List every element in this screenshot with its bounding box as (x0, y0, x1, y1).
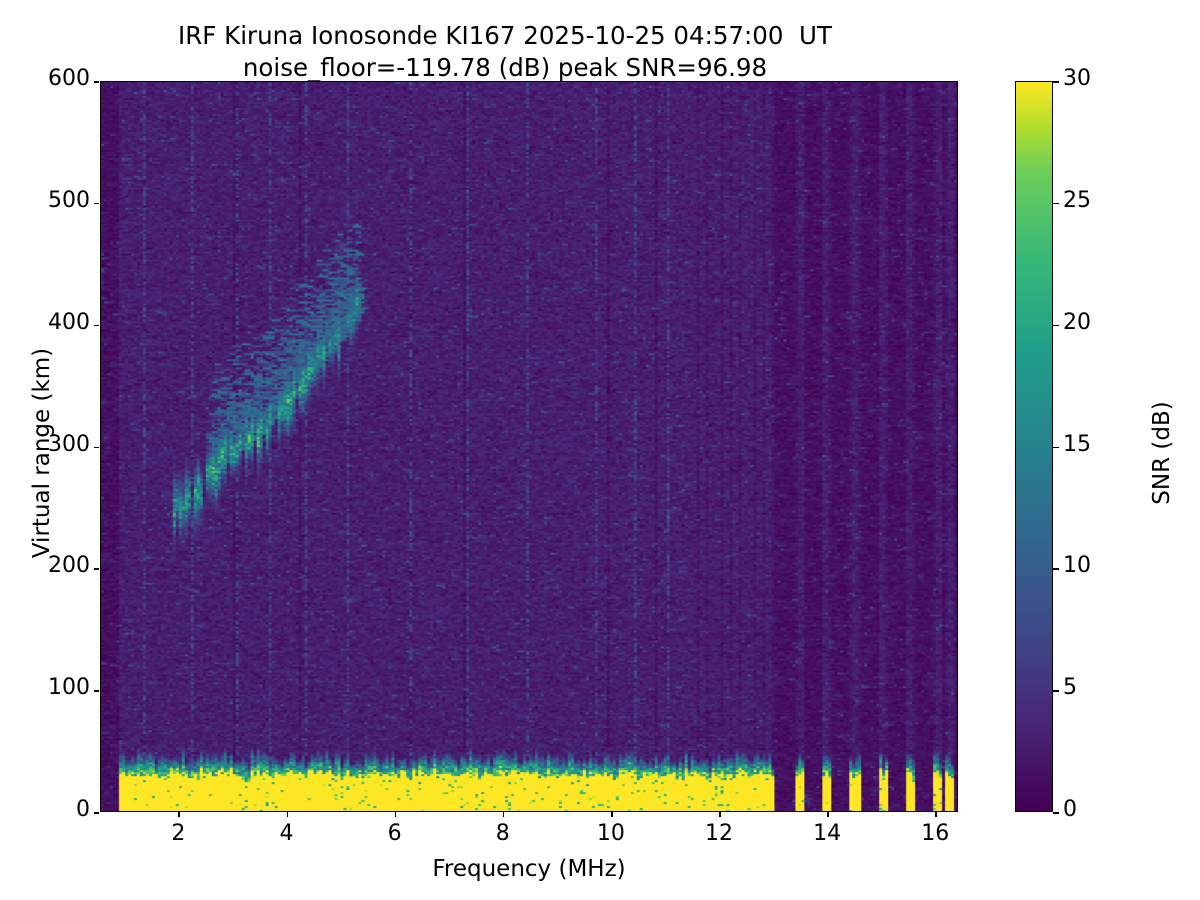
colorbar-tick-label: 20 (1063, 310, 1091, 335)
x-tick-label: 2 (138, 821, 218, 846)
figure-title: IRF Kiruna Ionosonde KI167 2025-10-25 04… (0, 20, 1010, 84)
y-tick-mark (94, 568, 99, 570)
x-tick-label: 10 (571, 821, 651, 846)
ionogram-heatmap-canvas (101, 82, 957, 811)
y-tick-mark (94, 812, 99, 814)
y-tick-mark (94, 203, 99, 205)
x-tick-label: 4 (247, 821, 327, 846)
x-axis-label: Frequency (MHz) (100, 856, 958, 882)
title-line-1: IRF Kiruna Ionosonde KI167 2025-10-25 04… (178, 21, 832, 50)
ionogram-heatmap-axes (100, 81, 958, 812)
colorbar-tick-mark (1053, 812, 1059, 814)
colorbar-tick-mark (1053, 203, 1059, 205)
colorbar-tick-label: 15 (1063, 432, 1091, 457)
x-tick-mark (395, 812, 397, 817)
ionogram-figure: IRF Kiruna Ionosonde KI167 2025-10-25 04… (0, 0, 1200, 900)
x-tick-mark (719, 812, 721, 817)
x-tick-mark (935, 812, 937, 817)
y-tick-label: 600 (20, 66, 90, 91)
colorbar-tick-mark (1053, 690, 1059, 692)
x-tick-label: 12 (679, 821, 759, 846)
colorbar-tick-mark (1053, 447, 1059, 449)
colorbar-tick-label: 5 (1063, 675, 1077, 700)
x-tick-mark (287, 812, 289, 817)
colorbar (1015, 81, 1053, 812)
y-tick-mark (94, 447, 99, 449)
x-tick-mark (503, 812, 505, 817)
title-line-2: noise_floor=-119.78 (dB) peak SNR=96.98 (243, 53, 767, 82)
colorbar-tick-label: 10 (1063, 553, 1091, 578)
y-tick-label: 0 (20, 797, 90, 822)
colorbar-label: SNR (dB) (1149, 243, 1175, 663)
x-tick-label: 8 (463, 821, 543, 846)
colorbar-tick-label: 0 (1063, 797, 1077, 822)
y-axis-label: Virtual range (km) (29, 193, 55, 713)
y-tick-mark (94, 81, 99, 83)
x-tick-label: 14 (787, 821, 867, 846)
x-tick-mark (611, 812, 613, 817)
colorbar-tick-label: 25 (1063, 188, 1091, 213)
y-tick-mark (94, 325, 99, 327)
colorbar-tick-mark (1053, 568, 1059, 570)
x-tick-mark (827, 812, 829, 817)
x-tick-label: 16 (895, 821, 975, 846)
y-tick-mark (94, 690, 99, 692)
colorbar-tick-mark (1053, 325, 1059, 327)
colorbar-tick-label: 30 (1063, 66, 1091, 91)
x-tick-mark (178, 812, 180, 817)
x-tick-label: 6 (355, 821, 435, 846)
colorbar-gradient (1016, 82, 1052, 811)
colorbar-tick-mark (1053, 81, 1059, 83)
